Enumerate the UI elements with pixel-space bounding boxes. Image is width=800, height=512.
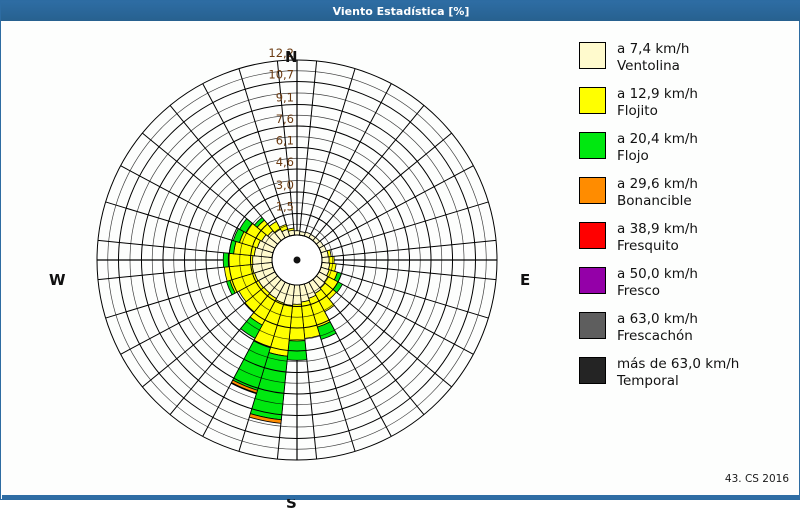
compass-label-west: W (49, 271, 66, 289)
legend-item: a 29,6 km/hBonancible (579, 176, 794, 216)
legend-item-text: a 7,4 km/hVentolina (617, 41, 689, 74)
legend-item-speed: a 63,0 km/h (617, 311, 698, 328)
legend-item: a 63,0 km/hFrescachón (579, 311, 794, 351)
legend-item-name: Frescachón (617, 328, 698, 345)
radial-tick-label: 1,5 (276, 199, 294, 213)
legend-item-text: a 63,0 km/hFrescachón (617, 311, 698, 344)
footer-credit: 43. CS 2016 (725, 473, 789, 485)
legend-item: a 12,9 km/hFlojito (579, 86, 794, 126)
legend-item-name: Fresco (617, 283, 698, 300)
legend-color-swatch (579, 267, 606, 294)
legend-item-speed: a 29,6 km/h (617, 176, 698, 193)
legend-item-text: a 38,9 km/hFresquito (617, 221, 698, 254)
wind-rose-chart: 1,53,04,66,17,69,110,712,2 (2, 22, 568, 477)
legend-item-speed: a 50,0 km/h (617, 266, 698, 283)
legend-item-name: Flojito (617, 103, 698, 120)
radial-tick-label: 6,1 (276, 134, 294, 148)
legend-item-text: a 29,6 km/hBonancible (617, 176, 698, 209)
radial-tick-label: 10,7 (268, 68, 294, 82)
radial-tick-label: 9,1 (276, 90, 294, 104)
legend-item-speed: más de 63,0 km/h (617, 356, 739, 373)
legend-item-name: Ventolina (617, 58, 689, 75)
compass-label-east: E (520, 271, 530, 289)
legend-item: a 38,9 km/hFresquito (579, 221, 794, 261)
wind-rose-petal-segment (223, 253, 228, 267)
legend-item-text: más de 63,0 km/hTemporal (617, 356, 739, 389)
legend-item-speed: a 20,4 km/h (617, 131, 698, 148)
window-title: Viento Estadística [%] (333, 5, 470, 18)
legend-item-name: Fresquito (617, 238, 698, 255)
wind-rose-petal-segment (329, 256, 334, 263)
legend-color-swatch (579, 357, 606, 384)
legend-item-text: a 50,0 km/hFresco (617, 266, 698, 299)
window-bottom-bar (2, 495, 800, 499)
radial-tick-label: 4,6 (276, 155, 294, 169)
legend-item-name: Bonancible (617, 193, 698, 210)
legend-color-swatch (579, 42, 606, 69)
radial-tick-labels: 1,53,04,66,17,69,110,712,2 (268, 46, 294, 213)
radial-tick-label: 3,0 (276, 178, 294, 192)
legend-item-speed: a 7,4 km/h (617, 41, 689, 58)
wind-rose-centre-point (294, 257, 301, 264)
legend-item-speed: a 12,9 km/h (617, 86, 698, 103)
wind-rose-plot-area: 1,53,04,66,17,69,110,712,2 N E S W (2, 22, 568, 477)
legend-color-swatch (579, 132, 606, 159)
legend-item-name: Temporal (617, 373, 739, 390)
legend-item-text: a 20,4 km/hFlojo (617, 131, 698, 164)
wind-rose-petal-segment (294, 231, 300, 235)
legend-item: más de 63,0 km/hTemporal (579, 356, 794, 396)
legend-color-swatch (579, 222, 606, 249)
radial-tick-label: 7,6 (276, 112, 294, 126)
legend-item: a 50,0 km/hFresco (579, 266, 794, 306)
legend: a 7,4 km/hVentolinaa 12,9 km/hFlojitoa 2… (579, 41, 794, 401)
legend-item: a 7,4 km/hVentolina (579, 41, 794, 81)
legend-color-swatch (579, 87, 606, 114)
window-titlebar: Viento Estadística [%] (1, 1, 800, 21)
compass-label-north: N (285, 48, 298, 66)
legend-color-swatch (579, 177, 606, 204)
legend-item-text: a 12,9 km/hFlojito (617, 86, 698, 119)
wind-rose-window: Viento Estadística [%] 1,53,04,66,17,69,… (0, 0, 800, 500)
legend-item: a 20,4 km/hFlojo (579, 131, 794, 171)
legend-item-speed: a 38,9 km/h (617, 221, 698, 238)
legend-color-swatch (579, 312, 606, 339)
legend-item-name: Flojo (617, 148, 698, 165)
